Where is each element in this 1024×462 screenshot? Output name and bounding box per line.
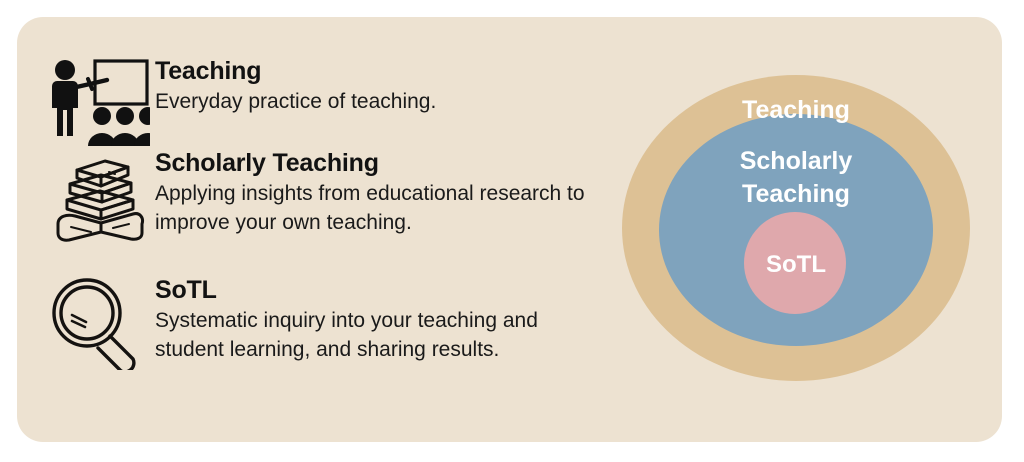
ellipse-label-scholarly-line2: Teaching — [742, 180, 850, 208]
book-stack-icon — [40, 148, 155, 248]
row-text-block: Teaching Everyday practice of teaching. — [155, 56, 436, 117]
nested-ellipse-diagram: Teaching Scholarly Teaching SoTL — [608, 55, 998, 405]
row-text-block: Scholarly Teaching Applying insights fro… — [155, 148, 605, 238]
row-description: Systematic inquiry into your teaching an… — [155, 307, 605, 365]
ellipse-label-scholarly-line1: Scholarly — [740, 147, 853, 175]
row-description: Applying insights from educational resea… — [155, 180, 605, 238]
list-item-teaching: Teaching Everyday practice of teaching. — [40, 56, 436, 148]
list-item-sotl: SoTL Systematic inquiry into your teachi… — [40, 275, 605, 370]
ellipse-label-sotl: SoTL — [766, 251, 826, 278]
ellipse-label-teaching: Teaching — [742, 96, 850, 124]
row-title: SoTL — [155, 277, 605, 304]
infographic-canvas: Teaching Everyday practice of teaching. — [0, 0, 1024, 462]
row-text-block: SoTL Systematic inquiry into your teachi… — [155, 275, 605, 365]
definition-list: Teaching Everyday practice of teaching. — [40, 45, 620, 395]
teacher-whiteboard-icon — [40, 56, 155, 148]
row-description: Everyday practice of teaching. — [155, 88, 436, 117]
row-title: Scholarly Teaching — [155, 150, 605, 177]
magnifying-glass-icon — [40, 275, 155, 370]
row-title: Teaching — [155, 58, 436, 85]
list-item-scholarly-teaching: Scholarly Teaching Applying insights fro… — [40, 148, 605, 248]
